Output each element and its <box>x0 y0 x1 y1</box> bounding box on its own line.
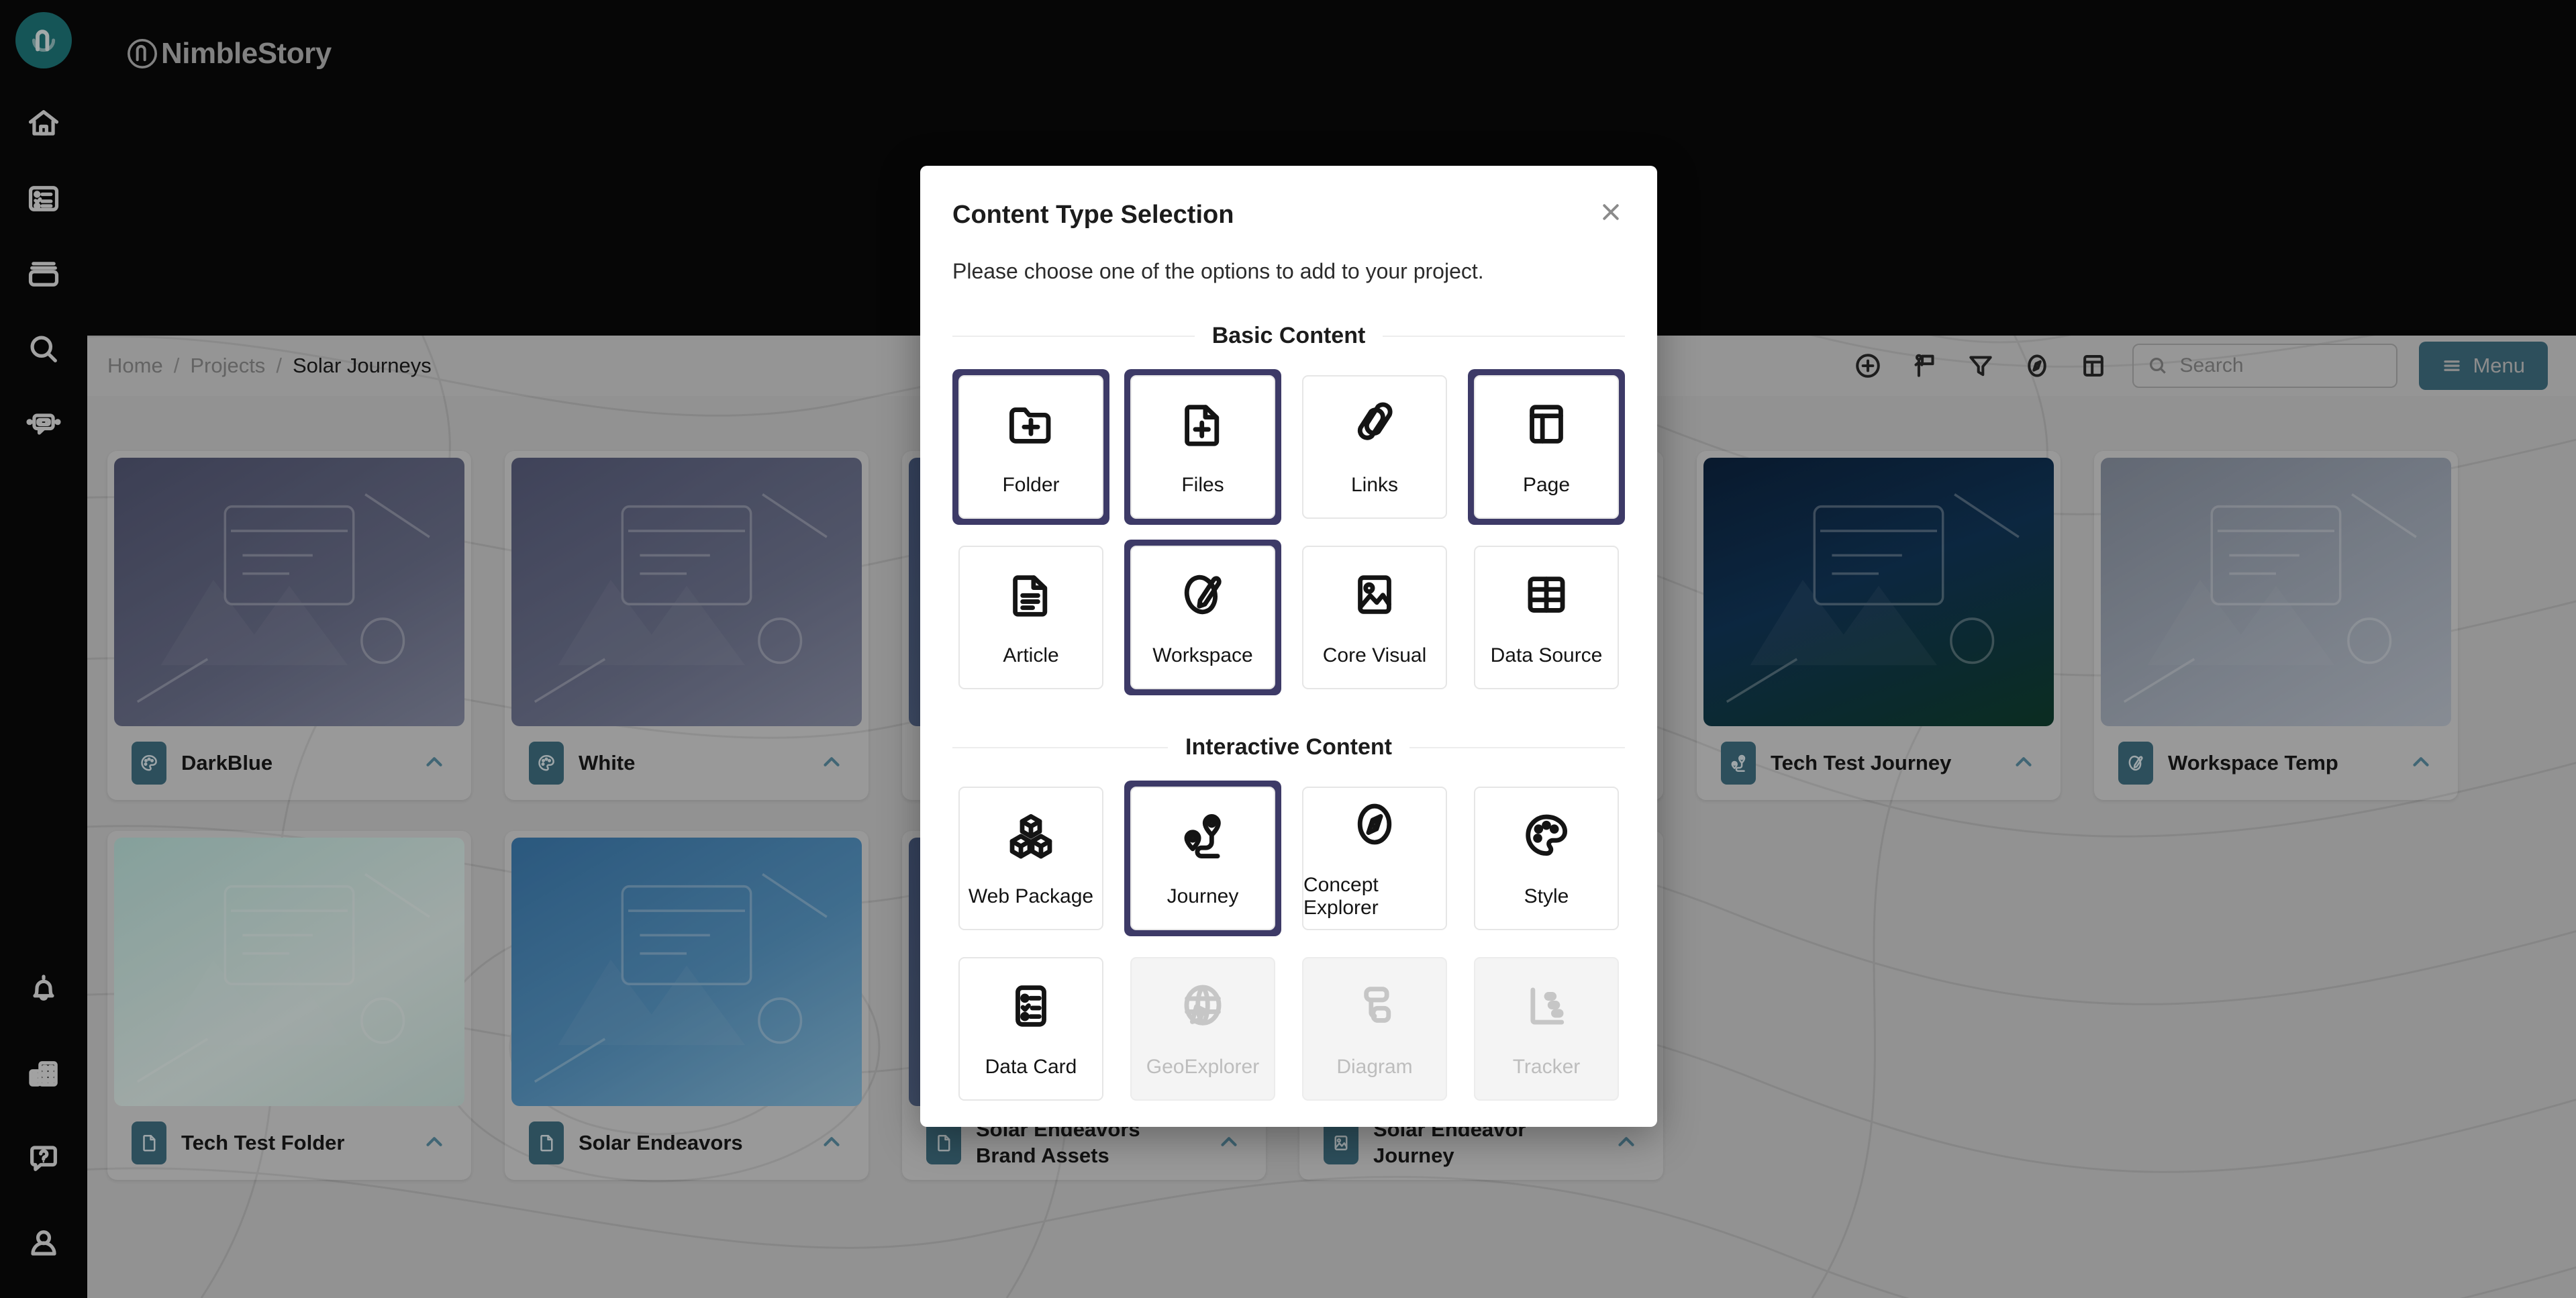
content-type-tile-links[interactable]: Links <box>1302 375 1447 519</box>
divider-right <box>1383 336 1625 337</box>
tile-wrapper: Workspace <box>1124 540 1281 695</box>
tile-wrapper: Files <box>1124 369 1281 525</box>
tile-grid-basic: FolderFilesLinksPageArticleWorkspaceCore… <box>952 369 1625 695</box>
tile-wrapper: Diagram <box>1296 951 1453 1107</box>
article-icon <box>1005 568 1057 624</box>
checklist-icon <box>1005 980 1057 1036</box>
divider-right <box>1409 747 1625 748</box>
content-type-tile-workspace[interactable]: Workspace <box>1130 546 1275 689</box>
tile-label: Concept Explorer <box>1303 874 1446 919</box>
page-title: Content Type Selection <box>952 201 1625 230</box>
content-type-tile-concept-explorer[interactable]: Concept Explorer <box>1302 787 1447 930</box>
tile-label: Page <box>1523 474 1570 497</box>
link-icon <box>1348 398 1401 454</box>
close-icon <box>1599 200 1623 224</box>
tile-label: Diagram <box>1336 1056 1412 1079</box>
compass-icon <box>1348 798 1401 854</box>
tile-label: Files <box>1181 474 1224 497</box>
tile-wrapper: Journey <box>1124 781 1281 936</box>
table-icon <box>1520 568 1573 624</box>
content-type-tile-article[interactable]: Article <box>958 546 1103 689</box>
tile-label: Article <box>1003 644 1058 667</box>
tile-label: Web Package <box>969 885 1093 908</box>
content-type-tile-core-visual[interactable]: Core Visual <box>1302 546 1447 689</box>
tile-label: Journey <box>1167 885 1239 908</box>
section-label: Interactive Content <box>1185 734 1392 760</box>
palette-icon <box>1520 809 1573 865</box>
content-type-tile-journey[interactable]: Journey <box>1130 787 1275 930</box>
content-type-tile-style[interactable]: Style <box>1474 787 1619 930</box>
cubes-icon <box>1005 809 1057 865</box>
tile-wrapper: Folder <box>952 369 1109 525</box>
divider-left <box>952 747 1168 748</box>
file-plus-icon <box>1177 398 1229 454</box>
content-type-tile-page[interactable]: Page <box>1474 375 1619 519</box>
tile-wrapper: Page <box>1468 369 1625 525</box>
tile-wrapper: Concept Explorer <box>1296 781 1453 936</box>
tile-label: Workspace <box>1152 644 1253 667</box>
tile-wrapper: Core Visual <box>1296 540 1453 695</box>
content-type-tile-web-package[interactable]: Web Package <box>958 787 1103 930</box>
page-icon <box>1520 398 1573 454</box>
content-type-tile-files[interactable]: Files <box>1130 375 1275 519</box>
tile-label: Style <box>1524 885 1569 908</box>
section-label: Basic Content <box>1212 323 1366 349</box>
folder-plus-icon <box>1005 398 1057 454</box>
tile-label: Folder <box>1002 474 1059 497</box>
tile-wrapper: Data Card <box>952 951 1109 1107</box>
content-type-tile-diagram: Diagram <box>1302 957 1447 1101</box>
tile-label: Core Visual <box>1323 644 1427 667</box>
tile-grid-interactive: Web PackageJourneyConcept ExplorerStyleD… <box>952 781 1625 1107</box>
tile-wrapper: Web Package <box>952 781 1109 936</box>
image-icon <box>1348 568 1401 624</box>
content-type-selection-modal: Content Type Selection Please choose one… <box>920 166 1657 1127</box>
tile-wrapper: Links <box>1296 369 1453 525</box>
content-type-tile-data-source[interactable]: Data Source <box>1474 546 1619 689</box>
tile-wrapper: Tracker <box>1468 951 1625 1107</box>
tile-label: GeoExplorer <box>1146 1056 1259 1079</box>
workspace-icon <box>1177 568 1229 624</box>
tile-wrapper: Article <box>952 540 1109 695</box>
journey-icon <box>1177 809 1229 865</box>
tile-wrapper: Data Source <box>1468 540 1625 695</box>
content-type-tile-tracker: Tracker <box>1474 957 1619 1101</box>
tracker-icon <box>1520 980 1573 1036</box>
tile-label: Tracker <box>1513 1056 1581 1079</box>
tile-label: Data Card <box>985 1056 1077 1079</box>
content-type-tile-geoexplorer: GeoExplorer <box>1130 957 1275 1101</box>
close-button[interactable] <box>1590 191 1632 233</box>
tile-label: Links <box>1351 474 1398 497</box>
diagram-icon <box>1348 980 1401 1036</box>
tile-label: Data Source <box>1491 644 1603 667</box>
divider-left <box>952 336 1195 337</box>
tile-wrapper: Style <box>1468 781 1625 936</box>
content-type-tile-data-card[interactable]: Data Card <box>958 957 1103 1101</box>
section-header-interactive: Interactive Content <box>952 734 1625 760</box>
modal-subtitle: Please choose one of the options to add … <box>952 259 1625 284</box>
tile-wrapper: GeoExplorer <box>1124 951 1281 1107</box>
content-type-tile-folder[interactable]: Folder <box>958 375 1103 519</box>
globe-click-icon <box>1177 980 1229 1036</box>
section-header-basic: Basic Content <box>952 323 1625 349</box>
